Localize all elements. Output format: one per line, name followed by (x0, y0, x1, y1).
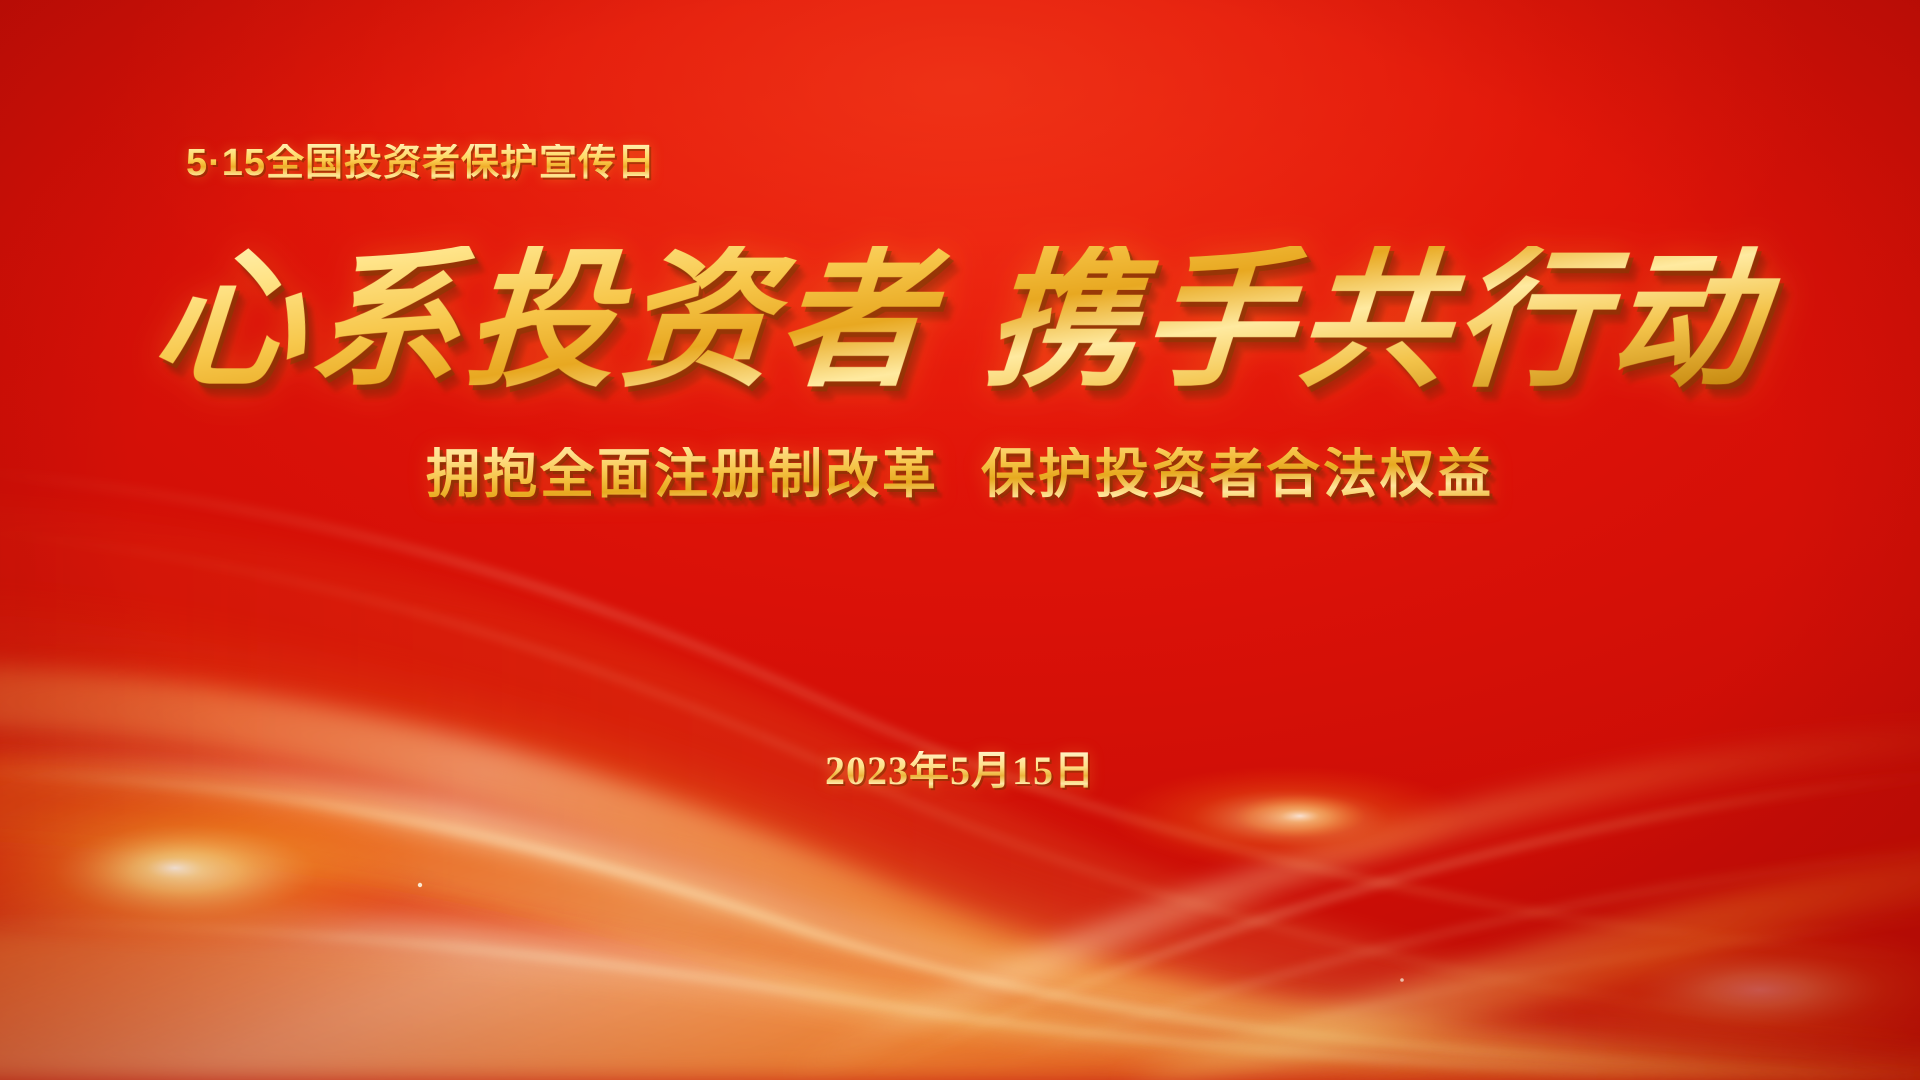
subtitle-part1: 拥抱全面注册制改革 (426, 444, 939, 504)
poster-canvas: 5·15全国投资者保护宣传日 心系投资者携手共行动 拥抱全面注册制改革保护投资者… (0, 0, 1920, 1080)
event-date-label: 2023年5月15日 (0, 751, 1920, 791)
main-title-part1: 心系投资者 (148, 239, 940, 405)
event-tag-label: 5·15全国投资者保护宣传日 (186, 144, 656, 182)
main-title: 心系投资者携手共行动 (0, 246, 1920, 399)
subtitle: 拥抱全面注册制改革保护投资者合法权益 (0, 447, 1920, 501)
subtitle-part2: 保护投资者合法权益 (981, 444, 1494, 504)
main-title-part2: 携手共行动 (980, 239, 1772, 405)
